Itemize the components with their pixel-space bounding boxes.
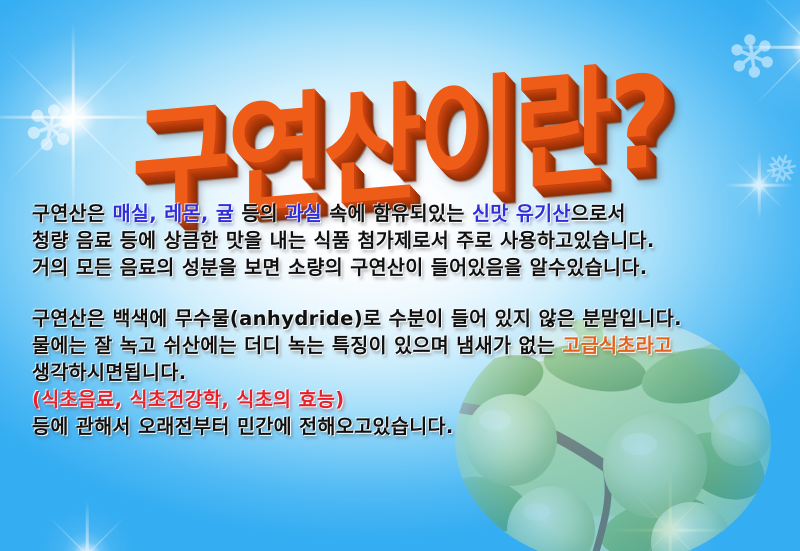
text-segment: (식초음료, 식초건강학, 식초의 효능) — [32, 388, 345, 411]
text-line: 생각하시면됩니다. — [32, 359, 772, 386]
text-line-highlight-red: (식초음료, 식초건강학, 식초의 효능) — [32, 386, 772, 413]
text-segment: 구연산은 — [32, 202, 113, 225]
highlight-premium-vinegar: 고급식초 — [562, 334, 635, 357]
highlight-organic-acid: 신맛 유기산 — [472, 202, 571, 225]
text-line: 등에 관해서 오래전부터 민간에 전해오고있습니다. — [32, 413, 772, 440]
text-segment: 물에는 잘 녹고 쉬산에는 더디 녹는 특징이 있으며 냄새가 없는 — [32, 334, 562, 357]
poster-canvas: ❇ ❇ ❅ — [0, 0, 800, 551]
text-line: 구연산은 매실, 레몬, 귤 등의 과실 속에 함유되있는 신맛 유기산으로서 — [32, 200, 772, 227]
text-line: 청량 음료 등에 상큼한 맛을 내는 식품 첨가제로서 주로 사용하고있습니다. — [32, 227, 772, 254]
starburst-bottom-left-icon — [32, 500, 142, 551]
text-line: 물에는 잘 녹고 쉬산에는 더디 녹는 특징이 있으며 냄새가 없는 고급식초라… — [32, 332, 772, 359]
text-segment: 등에 관해서 오래전부터 민간에 전해오고있습니다. — [32, 415, 454, 438]
text-line: 구연산은 백색에 무수물(anhydride)로 수분이 들어 있지 않은 분말… — [32, 305, 772, 332]
paragraph-spacer — [32, 281, 772, 305]
paragraph-1: 구연산은 매실, 레몬, 귤 등의 과실 속에 함유되있는 신맛 유기산으로서 … — [32, 200, 772, 281]
text-segment: 거의 모든 음료의 성분을 보면 소량의 구연산이 들어있음을 알수있습니다. — [32, 256, 648, 279]
text-segment: 라고 — [636, 334, 673, 357]
text-segment: 등의 — [234, 202, 285, 225]
text-segment: 으로서 — [571, 202, 626, 225]
text-segment: 생각하시면됩니다. — [32, 361, 187, 384]
text-segment: 속에 함유되있는 — [322, 202, 472, 225]
highlight-fruit-names: 매실, 레몬, 귤 — [113, 202, 235, 225]
body-copy: 구연산은 매실, 레몬, 귤 등의 과실 속에 함유되있는 신맛 유기산으로서 … — [32, 200, 772, 440]
text-line: 거의 모든 음료의 성분을 보면 소량의 구연산이 들어있음을 알수있습니다. — [32, 254, 772, 281]
highlight-fruit-word: 과실 — [285, 202, 322, 225]
text-segment: 구연산은 백색에 무수물(anhydride)로 수분이 들어 있지 않은 분말… — [32, 307, 682, 330]
text-segment: 청량 음료 등에 상큼한 맛을 내는 식품 첨가제로서 주로 사용하고있습니다. — [32, 229, 655, 252]
paragraph-2: 구연산은 백색에 무수물(anhydride)로 수분이 들어 있지 않은 분말… — [32, 305, 772, 440]
